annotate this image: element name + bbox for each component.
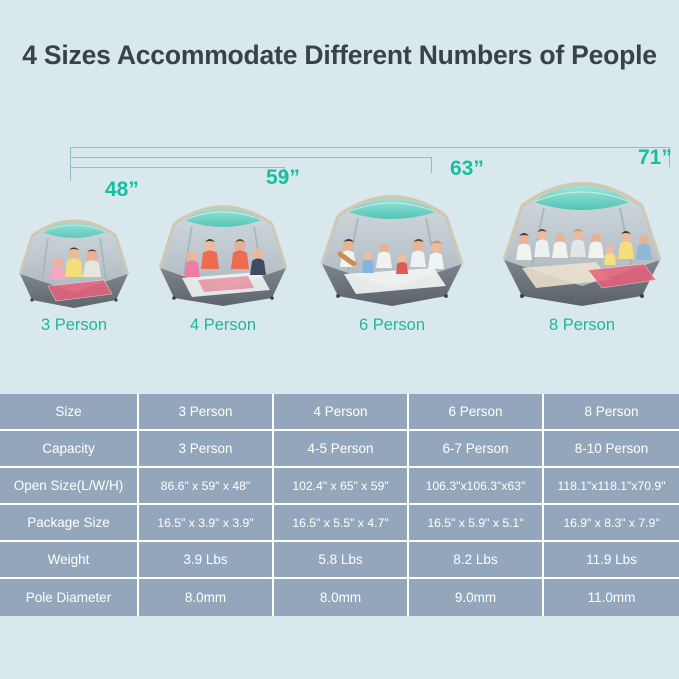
page-title: 4 Sizes Accommodate Different Numbers of… xyxy=(0,40,679,71)
cell-open-size-4: 102.4" x 65" x 59" xyxy=(274,468,409,505)
dimension-label-63: 63” xyxy=(450,157,484,181)
tent-comparison-scene xyxy=(0,130,679,310)
tent-label-8-person: 8 Person xyxy=(492,316,672,335)
table-row: Capacity 3 Person 4-5 Person 6-7 Person … xyxy=(0,431,679,468)
dimension-label-48: 48” xyxy=(105,178,139,202)
tent-illustration-4-person xyxy=(148,174,298,310)
table-row: Weight 3.9 Lbs 5.8 Lbs 8.2 Lbs 11.9 Lbs xyxy=(0,542,679,579)
cell-size-3: 3 Person xyxy=(139,394,274,431)
cell-package-size-6: 16.5" x 5.9" x 5.1" xyxy=(409,505,544,542)
row-header-capacity: Capacity xyxy=(0,431,139,468)
cell-pole-diameter-8: 11.0mm xyxy=(544,579,679,616)
dimension-label-71: 71” xyxy=(638,146,672,170)
cell-weight-4: 5.8 Lbs xyxy=(274,542,409,579)
cell-package-size-8: 16.9" x 8.3" x 7.9" xyxy=(544,505,679,542)
cell-capacity-8: 8-10 Person xyxy=(544,431,679,468)
tent-label-4-person: 4 Person xyxy=(148,316,298,335)
infographic-page: 4 Sizes Accommodate Different Numbers of… xyxy=(0,0,679,679)
cell-package-size-3: 16.5" x 3.9" x 3.9" xyxy=(139,505,274,542)
cell-capacity-3: 3 Person xyxy=(139,431,274,468)
cell-open-size-8: 118.1"x118.1"x70.9" xyxy=(544,468,679,505)
cell-size-4: 4 Person xyxy=(274,394,409,431)
table-row: Size 3 Person 4 Person 6 Person 8 Person xyxy=(0,394,679,431)
cell-pole-diameter-3: 8.0mm xyxy=(139,579,274,616)
dimension-label-59: 59” xyxy=(266,166,300,190)
cell-capacity-6: 6-7 Person xyxy=(409,431,544,468)
row-header-size: Size xyxy=(0,394,139,431)
table-row: Package Size 16.5" x 3.9" x 3.9" 16.5" x… xyxy=(0,505,679,542)
cell-size-8: 8 Person xyxy=(544,394,679,431)
cell-open-size-3: 86.6" x 59" x 48" xyxy=(139,468,274,505)
tent-label-6-person: 6 Person xyxy=(310,316,474,335)
cell-package-size-4: 16.5" x 5.5" x 4.7" xyxy=(274,505,409,542)
table-row: Pole Diameter 8.0mm 8.0mm 9.0mm 11.0mm xyxy=(0,579,679,616)
cell-weight-8: 11.9 Lbs xyxy=(544,542,679,579)
cell-capacity-4: 4-5 Person xyxy=(274,431,409,468)
row-header-package-size: Package Size xyxy=(0,505,139,542)
tent-illustration-8-person xyxy=(492,148,672,310)
cell-weight-6: 8.2 Lbs xyxy=(409,542,544,579)
cell-size-6: 6 Person xyxy=(409,394,544,431)
row-header-weight: Weight xyxy=(0,542,139,579)
cell-weight-3: 3.9 Lbs xyxy=(139,542,274,579)
row-header-open-size: Open Size(L/W/H) xyxy=(0,468,139,505)
cell-pole-diameter-4: 8.0mm xyxy=(274,579,409,616)
cell-open-size-6: 106.3"x106.3"x63" xyxy=(409,468,544,505)
tent-label-3-person: 3 Person xyxy=(8,316,140,335)
tent-illustration-6-person xyxy=(310,162,474,310)
tent-illustration-3-person xyxy=(8,188,140,310)
row-header-pole-diameter: Pole Diameter xyxy=(0,579,139,616)
spec-table: Size 3 Person 4 Person 6 Person 8 Person… xyxy=(0,394,679,616)
table-row: Open Size(L/W/H) 86.6" x 59" x 48" 102.4… xyxy=(0,468,679,505)
cell-pole-diameter-6: 9.0mm xyxy=(409,579,544,616)
